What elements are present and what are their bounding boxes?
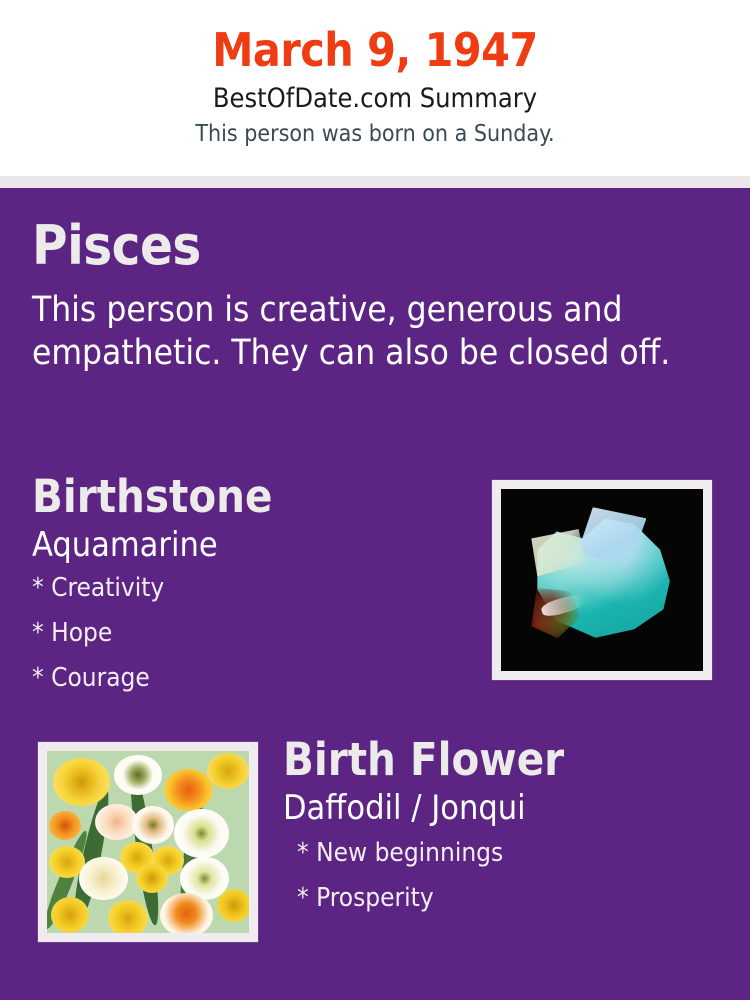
list-item: * Prosperity <box>297 885 723 911</box>
list-item: * Creativity <box>32 575 472 601</box>
birth-day-note: This person was born on a Sunday. <box>195 121 554 149</box>
birthstone-image-frame <box>492 480 712 680</box>
site-subtitle: BestOfDate.com Summary <box>213 83 537 115</box>
list-item: * New beginnings <box>297 840 723 866</box>
flower-icon <box>49 811 81 840</box>
zodiac-sign-name: Pisces <box>32 218 722 275</box>
zodiac-section: Pisces This person is creative, generous… <box>32 218 722 376</box>
list-item: * Hope <box>32 620 472 646</box>
birthstone-section: Birthstone Aquamarine * Creativity * Hop… <box>32 473 472 710</box>
summary-panel: Pisces This person is creative, generous… <box>0 188 750 1000</box>
birthflower-name: Daffodil / Jonqui <box>283 789 723 828</box>
flower-icon <box>79 857 127 901</box>
aquamarine-crystal-photo <box>501 489 703 671</box>
flower-icon <box>207 753 249 789</box>
flower-icon <box>160 893 213 933</box>
flower-icon <box>174 809 229 858</box>
page-title: March 9, 1947 <box>212 24 538 77</box>
flower-icon <box>114 755 162 795</box>
birthstone-heading: Birthstone <box>32 473 472 520</box>
daffodil-flowers-photo <box>47 751 249 933</box>
birthflower-trait-list: * New beginnings * Prosperity <box>283 840 723 911</box>
page-header: March 9, 1947 BestOfDate.com Summary Thi… <box>0 0 750 176</box>
birthstone-name: Aquamarine <box>32 526 472 565</box>
flower-icon <box>108 900 148 933</box>
flower-icon <box>164 769 212 811</box>
birthflower-image-frame <box>38 742 258 942</box>
header-divider-band <box>0 176 750 188</box>
zodiac-description: This person is creative, generous and em… <box>32 289 704 377</box>
birthflower-section: Birth Flower Daffodil / Jonqui * New beg… <box>283 736 723 930</box>
flower-icon <box>136 864 168 893</box>
flower-icon <box>217 889 249 922</box>
birthflower-heading: Birth Flower <box>283 736 723 783</box>
flower-icon <box>51 897 89 933</box>
birthstone-trait-list: * Creativity * Hope * Courage <box>32 575 472 691</box>
flower-icon <box>53 758 110 805</box>
list-item: * Courage <box>32 665 472 691</box>
flower-icon <box>132 806 174 844</box>
